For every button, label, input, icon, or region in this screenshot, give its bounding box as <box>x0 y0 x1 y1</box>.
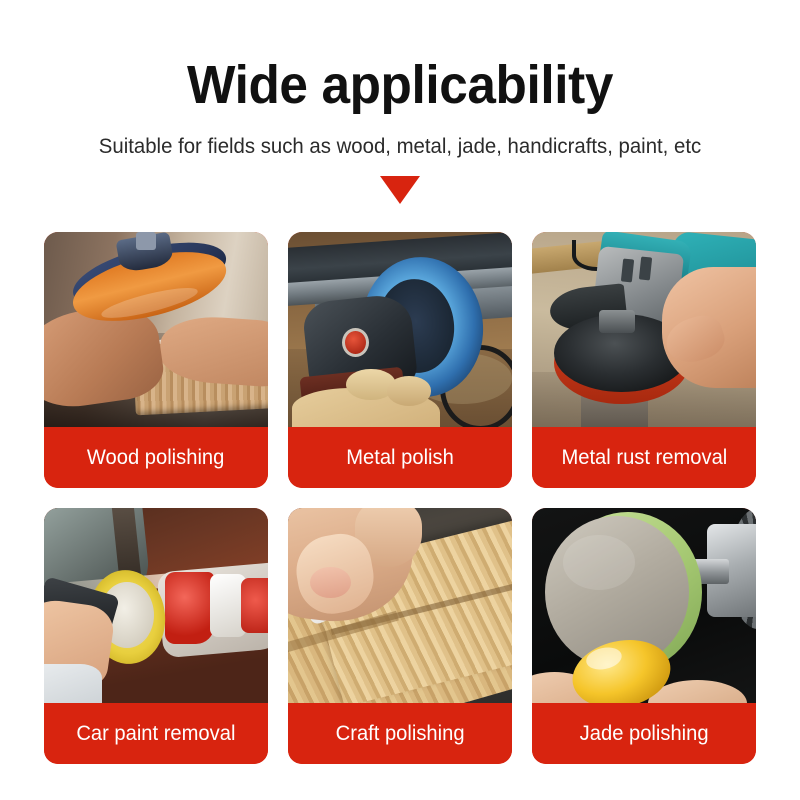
illustration-wood-polishing <box>44 232 268 427</box>
wide-applicability-banner: Wide applicability Suitable for fields s… <box>0 0 800 800</box>
card-label-bar: Craft polishing <box>288 703 512 764</box>
application-card[interactable]: Metal polish <box>288 232 512 488</box>
illustration-metal-polish <box>288 232 512 427</box>
card-label-bar: Wood polishing <box>44 427 268 488</box>
card-label-text: Metal rust removal <box>561 446 727 470</box>
card-label-bar: Metal polish <box>288 427 512 488</box>
triangle-down-icon <box>380 176 420 204</box>
page-subtitle: Suitable for fields such as wood, metal,… <box>12 134 788 160</box>
card-photo-jade-polishing <box>532 508 756 703</box>
card-label-bar: Car paint removal <box>44 703 268 764</box>
illustration-craft-polishing <box>288 508 512 703</box>
card-label-text: Jade polishing <box>580 722 709 746</box>
application-card-grid: Wood polishing Metal polish <box>44 232 756 764</box>
application-card[interactable]: Jade polishing <box>532 508 756 764</box>
application-card[interactable]: Metal rust removal <box>532 232 756 488</box>
card-photo-wood-polishing <box>44 232 268 427</box>
card-photo-craft-polishing <box>288 508 512 703</box>
page-title: Wide applicability <box>20 56 780 114</box>
application-card[interactable]: Car paint removal <box>44 508 268 764</box>
application-card[interactable]: Craft polishing <box>288 508 512 764</box>
illustration-car-paint-removal <box>44 508 268 703</box>
card-label-bar: Metal rust removal <box>532 427 756 488</box>
card-label-text: Metal polish <box>346 446 454 470</box>
illustration-metal-rust-removal <box>532 232 756 427</box>
card-label-text: Car paint removal <box>76 722 235 746</box>
card-photo-metal-polish <box>288 232 512 427</box>
card-photo-car-paint-removal <box>44 508 268 703</box>
application-card[interactable]: Wood polishing <box>44 232 268 488</box>
card-label-text: Wood polishing <box>87 446 224 470</box>
illustration-jade-polishing <box>532 508 756 703</box>
card-photo-metal-rust-removal <box>532 232 756 427</box>
card-label-text: Craft polishing <box>336 722 465 746</box>
header: Wide applicability Suitable for fields s… <box>0 0 800 210</box>
card-label-bar: Jade polishing <box>532 703 756 764</box>
arrow-container <box>0 176 800 210</box>
